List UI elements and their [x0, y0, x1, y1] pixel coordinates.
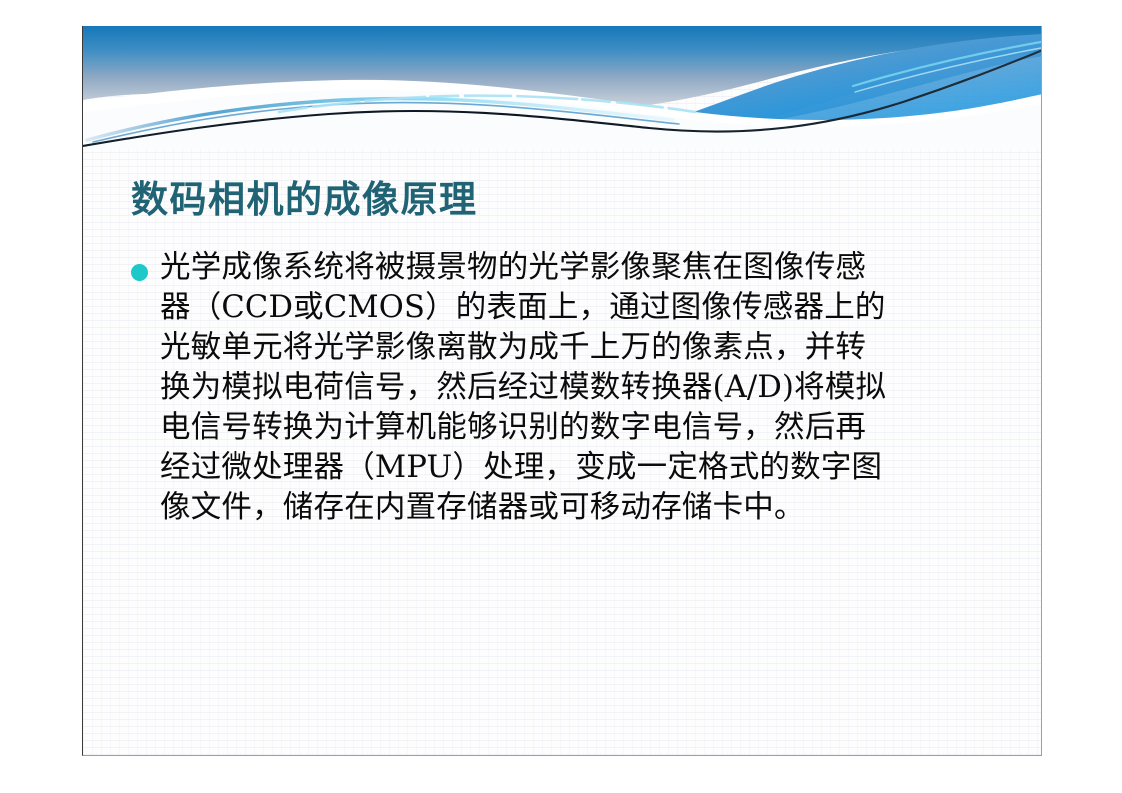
bullet-line: 经过微处理器（MPU）处理，变成一定格式的数字图	[160, 448, 1011, 488]
slide-canvas: 数码相机的成像原理 光学成像系统将被摄景物的光学影像聚焦在图像传感 器（CCD或…	[0, 0, 1122, 793]
header-wave-decoration	[83, 26, 1042, 148]
bullet-paragraph: 光学成像系统将被摄景物的光学影像聚焦在图像传感 器（CCD或CMOS）的表面上，…	[160, 248, 1011, 528]
slide-body: 光学成像系统将被摄景物的光学影像聚焦在图像传感 器（CCD或CMOS）的表面上，…	[131, 248, 1011, 528]
list-item: 光学成像系统将被摄景物的光学影像聚焦在图像传感 器（CCD或CMOS）的表面上，…	[131, 248, 1011, 528]
slide-frame: 数码相机的成像原理 光学成像系统将被摄景物的光学影像聚焦在图像传感 器（CCD或…	[82, 26, 1042, 756]
bullet-disc-icon	[131, 264, 148, 281]
bullet-line: 光学成像系统将被摄景物的光学影像聚焦在图像传感	[160, 248, 1011, 288]
bullet-line: 电信号转换为计算机能够识别的数字电信号，然后再	[160, 408, 1011, 448]
bullet-line: 像文件，储存在内置存储器或可移动存储卡中。	[160, 488, 1011, 528]
bullet-line: 器（CCD或CMOS）的表面上，通过图像传感器上的	[160, 288, 1011, 328]
slide-title: 数码相机的成像原理	[131, 178, 991, 222]
bullet-line: 光敏单元将光学影像离散为成千上万的像素点，并转	[160, 328, 1011, 368]
bullet-line: 换为模拟电荷信号，然后经过模数转换器(A/D)将模拟	[160, 368, 1011, 408]
